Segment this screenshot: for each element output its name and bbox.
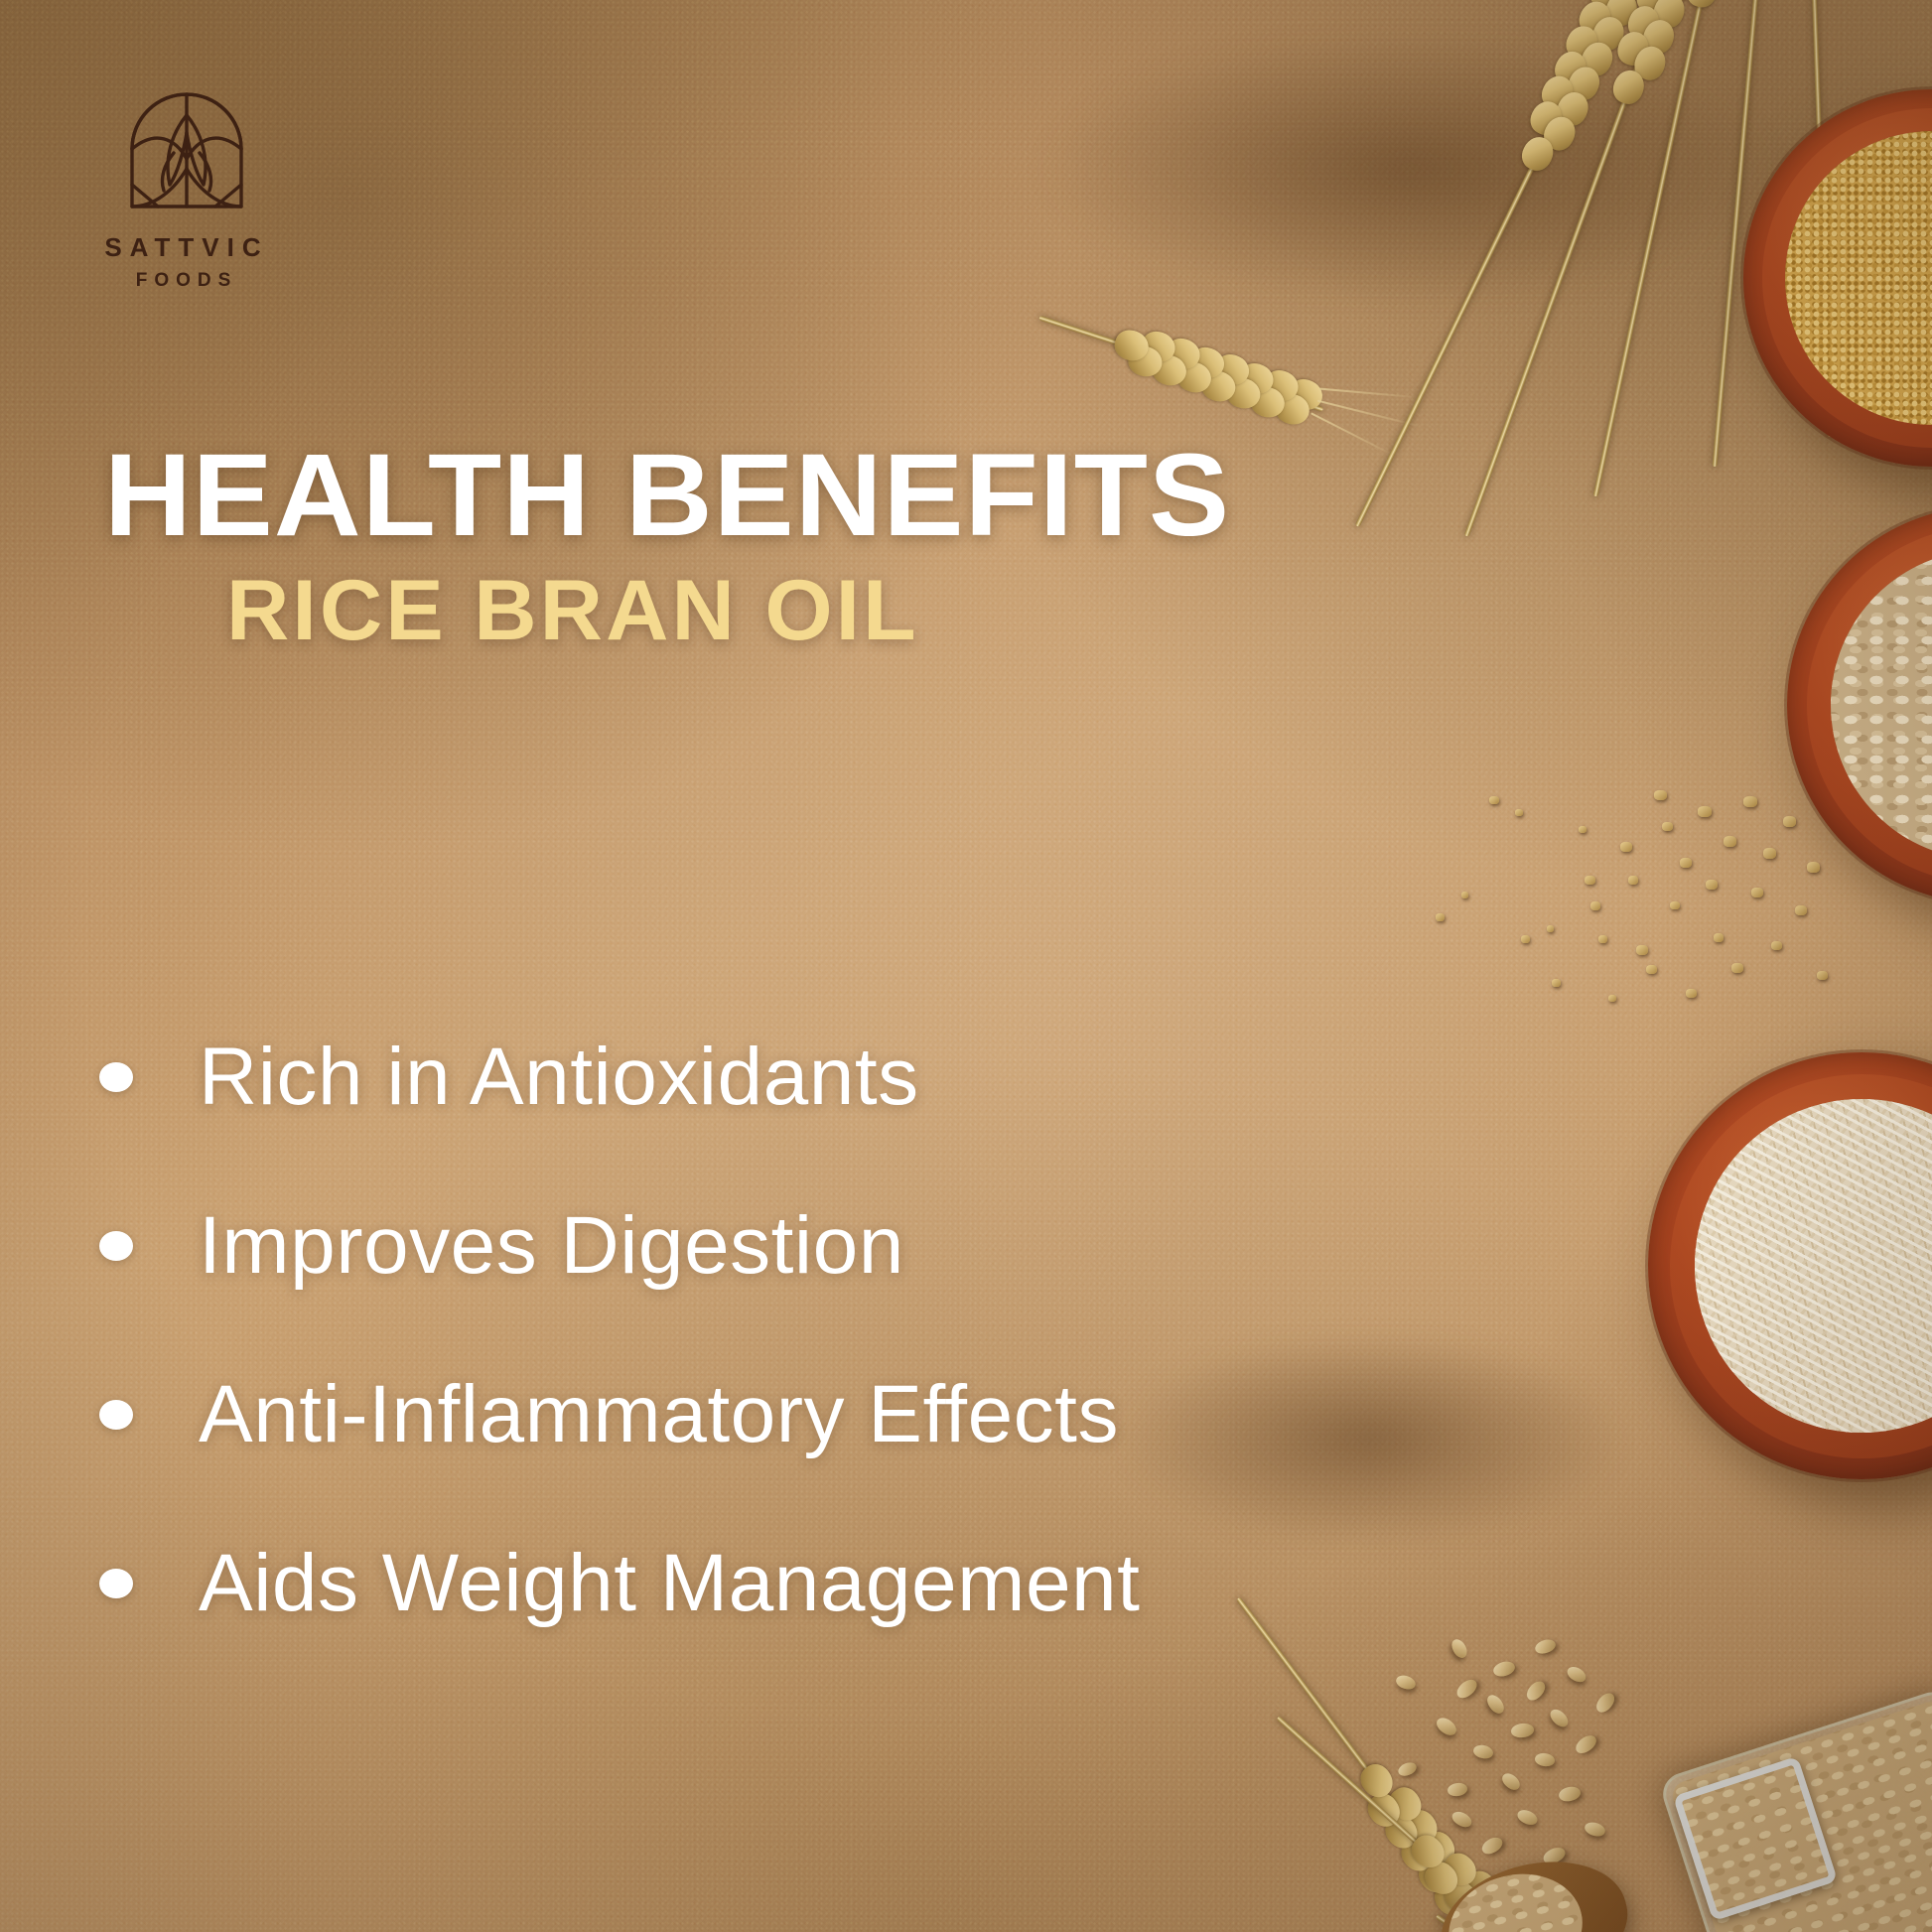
benefit-label: Anti-Inflammatory Effects <box>199 1374 1119 1455</box>
list-item: Improves Digestion <box>99 1162 1509 1330</box>
list-item: Aids Weight Management <box>99 1499 1509 1668</box>
bullet-dot-icon <box>99 1231 133 1261</box>
list-item: Anti-Inflammatory Effects <box>99 1330 1509 1499</box>
page-subtitle: RICE BRAN OIL <box>226 568 919 653</box>
leaf-arch-logo-icon <box>87 73 286 222</box>
benefit-label: Rich in Antioxidants <box>199 1036 919 1118</box>
bullet-dot-icon <box>99 1400 133 1430</box>
content-layer: SATTVIC FOODS HEALTH BENEFITS RICE BRAN … <box>0 0 1932 1932</box>
brand-subname: FOODS <box>87 270 286 292</box>
page-title: HEALTH BENEFITS <box>104 437 1230 554</box>
benefit-label: Improves Digestion <box>199 1205 904 1287</box>
list-item: Rich in Antioxidants <box>99 993 1509 1162</box>
bullet-dot-icon <box>99 1062 133 1092</box>
benefits-list: Rich in Antioxidants Improves Digestion … <box>99 993 1509 1668</box>
brand-name: SATTVIC <box>87 232 286 263</box>
bullet-dot-icon <box>99 1569 133 1598</box>
benefit-label: Aids Weight Management <box>199 1543 1140 1624</box>
brand-logo[interactable]: SATTVIC FOODS <box>87 73 286 292</box>
poster-canvas: SATTVIC FOODS HEALTH BENEFITS RICE BRAN … <box>0 0 1932 1932</box>
